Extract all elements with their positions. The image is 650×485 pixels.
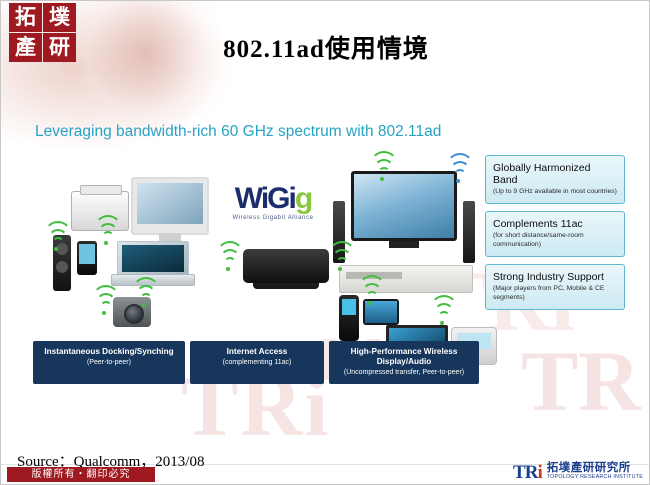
smartphone-screen [79,244,95,264]
wigig-wordmark-text: WiGi [235,182,295,215]
use-case-docking-synching: Instantaneous Docking/Synching (Peer-to-… [33,341,185,384]
wigig-logo: WiGig Wireless Gigabit Alliance [213,184,333,232]
use-case-title: High-Performance Wireless Display/Audio [333,347,475,367]
tri-wordmark: TRi [513,462,542,484]
use-case-internet-access: Internet Access (complementing 11ac) [190,341,324,384]
tv-screen [354,174,454,238]
router-device [243,249,329,283]
use-case-wireless-display-audio: High-Performance Wireless Display/Audio … [329,341,479,384]
wifi-signal-icon [329,245,355,271]
feature-box-globally-harmonized-band: Globally Harmonized Band (Up to 9 GHz av… [485,155,625,204]
feature-box-complements-11ac: Complements 11ac (for short distance/sam… [485,211,625,257]
smartphone-device [77,241,97,275]
desktop-monitor-device [131,177,209,235]
diagram-scene: WiGig Wireless Gigabit Alliance [33,149,473,339]
wifi-signal-icon [217,245,243,271]
use-case-title: Instantaneous Docking/Synching [37,347,181,357]
copyright-badge: 版權所有‧翻印必究 [7,467,155,482]
slide: TRi TRi TRi TR 拓 墣 產 研 802.11ad使用情境 Leve… [0,0,650,485]
feature-title: Strong Industry Support [493,271,617,283]
tv-speaker-right [463,201,475,263]
wigig-subtitle: Wireless Gigabit Alliance [213,215,333,221]
feature-box-strong-industry-support: Strong Industry Support (Major players f… [485,264,625,310]
use-case-subtitle: (Peer-to-peer) [37,358,181,367]
content-headline: Leveraging bandwidth-rich 60 GHz spectru… [35,123,441,141]
feature-subtitle: (for short distance/same-room communicat… [493,232,617,249]
feature-title: Complements 11ac [493,218,617,230]
use-case-subtitle: (Uncompressed transfer, Peer-to-peer) [333,368,475,377]
tri-footer-logo: TRi 拓墣產研研究所 TOPOLOGY RESEARCH INSTITUTE [513,463,643,483]
wifi-signal-icon [95,219,121,245]
logo-block-2: 墣 [43,3,76,32]
wifi-signal-icon [431,299,457,325]
tv-stand [389,241,419,248]
laptop-lid [117,241,189,277]
monitor-stand [159,233,181,241]
wigig-wordmark-tail: g [295,182,311,215]
feature-box-list: Globally Harmonized Band (Up to 9 GHz av… [485,155,625,317]
wifi-signal-icon [371,155,397,181]
wifi-signal-icon [133,281,159,307]
feature-subtitle: (Major players from PC, Mobile & CE segm… [493,285,617,302]
wigig-wordmark: WiGig [213,184,333,214]
wifi-signal-icon [45,225,71,251]
television-device [351,171,457,241]
tri-name-en: TOPOLOGY RESEARCH INSTITUTE [547,473,643,482]
use-case-title: Internet Access [194,347,320,357]
footer-bar: 版權所有‧翻印必究 TRi 拓墣產研研究所 TOPOLOGY RESEARCH … [1,465,650,484]
watermark-photo-glow-2 [71,1,221,131]
router-base [253,283,319,289]
remote-screen [342,299,356,315]
monitor-screen [137,183,203,224]
laptop-screen [122,245,184,272]
wifi-signal-icon-blue [447,157,473,183]
remote-control-device [339,295,359,341]
use-case-row: Instantaneous Docking/Synching (Peer-to-… [33,341,479,384]
feature-subtitle: (Up to 9 GHz available in most countries… [493,188,617,196]
tri-name-cn: 拓墣產研研究所 [547,464,643,473]
tri-name-block: 拓墣產研研究所 TOPOLOGY RESEARCH INSTITUTE [547,464,643,482]
wifi-signal-icon [93,289,119,315]
wifi-signal-icon [359,279,385,305]
use-case-subtitle: (complementing 11ac) [194,358,320,367]
feature-title: Globally Harmonized Band [493,162,617,186]
page-title: 802.11ad使用情境 [1,29,650,65]
logo-block-1: 拓 [9,3,42,32]
